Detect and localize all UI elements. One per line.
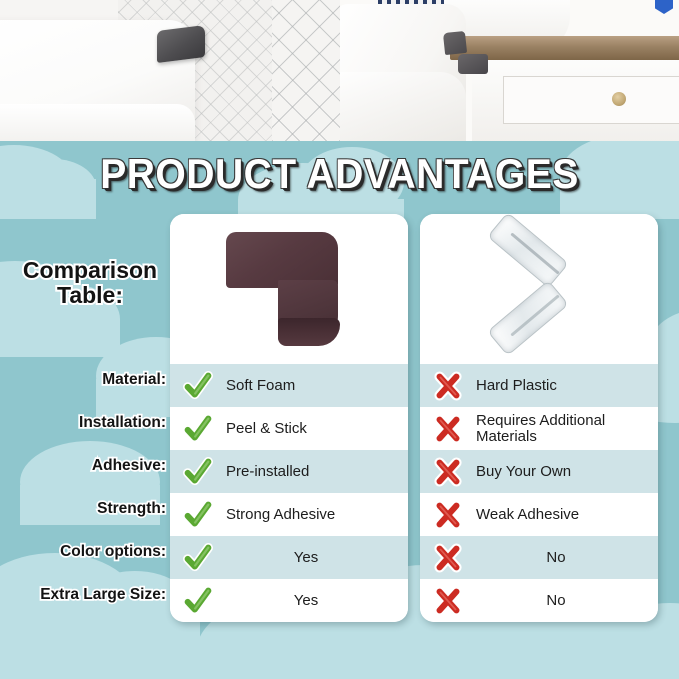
green-check-icon — [170, 371, 226, 401]
table-row: Yes — [170, 579, 408, 622]
red-x-icon — [420, 586, 476, 616]
comparison-table-label: Comparison Table: — [4, 258, 176, 308]
green-check-icon — [170, 414, 226, 444]
comparison-card-our-product: Soft Foam Peel & Stick — [170, 214, 408, 622]
green-check-icon — [170, 500, 226, 530]
hero-photo-right — [340, 0, 679, 141]
other-product-rows: Hard Plastic Requires Additional Materia… — [420, 364, 658, 622]
table-row: Pre-installed — [170, 450, 408, 493]
table-row: No — [420, 536, 658, 579]
green-check-icon — [170, 543, 226, 573]
red-x-icon — [420, 414, 476, 444]
cell-value: No — [476, 593, 658, 609]
table-row: Yes — [170, 536, 408, 579]
cell-value: No — [476, 550, 658, 566]
clear-plastic-corner-guard-illustration — [482, 228, 594, 348]
corner-guard-photo-left — [157, 25, 205, 63]
cell-value: Buy Your Own — [476, 464, 658, 480]
row-label-column: Material: Installation: Adhesive: Streng… — [0, 358, 170, 616]
page-title: PRODUCT ADVANTAGES — [24, 150, 655, 198]
table-row: Hard Plastic — [420, 364, 658, 407]
comparison-card-other-product: Hard Plastic Requires Additional Materia… — [420, 214, 658, 622]
hero-photo-band — [0, 0, 679, 141]
table-drawer — [503, 76, 679, 124]
green-check-icon — [170, 586, 226, 616]
corner-guard-photo-right-bottom — [458, 54, 488, 74]
table-row: Soft Foam — [170, 364, 408, 407]
cell-value: Weak Adhesive — [476, 507, 658, 523]
table-row: Buy Your Own — [420, 450, 658, 493]
cell-value: Soft Foam — [226, 378, 408, 394]
table-row: Weak Adhesive — [420, 493, 658, 536]
green-check-icon — [170, 457, 226, 487]
foam-corner-guard-illustration — [226, 232, 346, 344]
red-x-icon — [420, 457, 476, 487]
wallpaper-pattern-secondary — [272, 0, 340, 141]
cell-value: Strong Adhesive — [226, 507, 408, 523]
table-row: No — [420, 579, 658, 622]
cell-value: Pre-installed — [226, 464, 408, 480]
row-label-material: Material: — [0, 358, 170, 401]
row-label-color-options: Color options: — [0, 530, 170, 573]
row-label-adhesive: Adhesive: — [0, 444, 170, 487]
red-x-icon — [420, 371, 476, 401]
our-product-rows: Soft Foam Peel & Stick — [170, 364, 408, 622]
table-row: Strong Adhesive — [170, 493, 408, 536]
cell-value: Yes — [226, 593, 408, 609]
product-image-soft-foam-corner-guard — [170, 214, 408, 364]
sofa-seat — [340, 72, 466, 141]
table-row: Requires Additional Materials — [420, 407, 658, 450]
red-x-icon — [420, 543, 476, 573]
drawer-knob — [612, 92, 626, 106]
red-x-icon — [420, 500, 476, 530]
infographic-page: PRODUCT ADVANTAGES Comparison Table: Mat… — [0, 0, 679, 679]
corner-guard-photo-right-top — [443, 31, 467, 55]
row-label-installation: Installation: — [0, 401, 170, 444]
hero-photo-left — [0, 0, 340, 141]
row-label-extra-large-size: Extra Large Size: — [0, 573, 170, 616]
cell-value: Requires Additional Materials — [476, 413, 658, 445]
cell-value: Yes — [226, 550, 408, 566]
cell-value: Peel & Stick — [226, 421, 408, 437]
white-furniture-base — [0, 104, 195, 141]
cell-value: Hard Plastic — [476, 378, 658, 394]
brand-badge-icon — [655, 0, 673, 14]
product-image-hard-plastic-corner-guard — [420, 214, 658, 364]
table-row: Peel & Stick — [170, 407, 408, 450]
row-label-strength: Strength: — [0, 487, 170, 530]
